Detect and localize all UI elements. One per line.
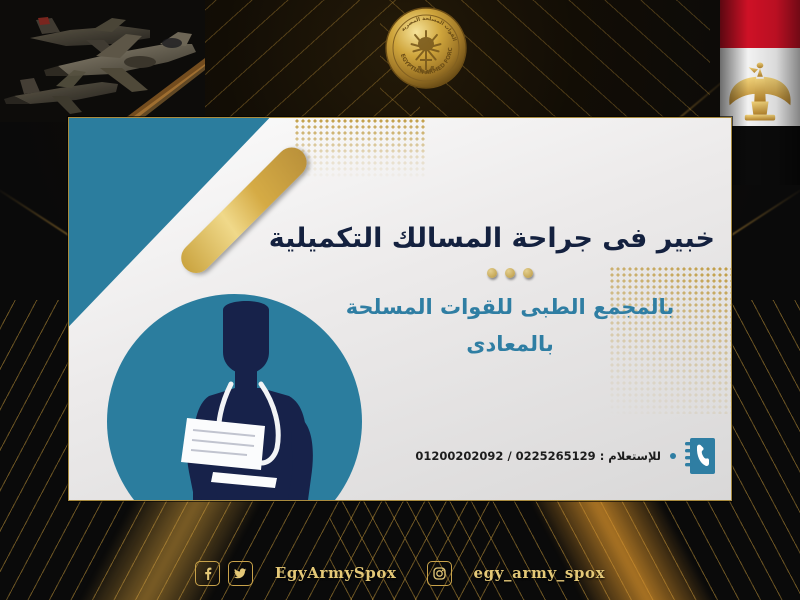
subtitle-line-2: بالمعادى [305,329,715,361]
card-text-block: خبير فى جراحة المسالك التكميلية بالمجمع … [305,222,715,361]
egyptian-flag [720,0,800,185]
instagram-icon[interactable] [427,561,452,586]
contact-row[interactable]: للإستعلام : 0225265129 / 01200202092 [415,438,715,474]
twitter-icon[interactable] [228,561,253,586]
facebook-twitter-handle[interactable]: EgyArmySpox [275,564,397,582]
phone-book-icon [685,438,715,474]
facebook-icon[interactable] [195,561,220,586]
fighter-jets-image [0,0,205,122]
contact-text: للإستعلام : 0225265129 / 01200202092 [415,449,661,463]
subtitle-line-1: بالمجمع الطبى للقوات المسلحة [305,292,715,324]
poster-stage: القوات المسلحة المصرية EGYPTIAN ARMED FO… [0,0,800,600]
announcement-card: خبير فى جراحة المسالك التكميلية بالمجمع … [68,117,732,501]
halftone-pattern-top [294,118,427,180]
bullet-dot [670,453,676,459]
armed-forces-emblem-icon: القوات المسلحة المصرية EGYPTIAN ARMED FO… [384,6,468,90]
social-footer: EgyArmySpox egy_army_spox [0,556,800,590]
instagram-handle[interactable]: egy_army_spox [474,564,606,582]
headline: خبير فى جراحة المسالك التكميلية [305,222,715,256]
dot-separator [305,268,715,278]
